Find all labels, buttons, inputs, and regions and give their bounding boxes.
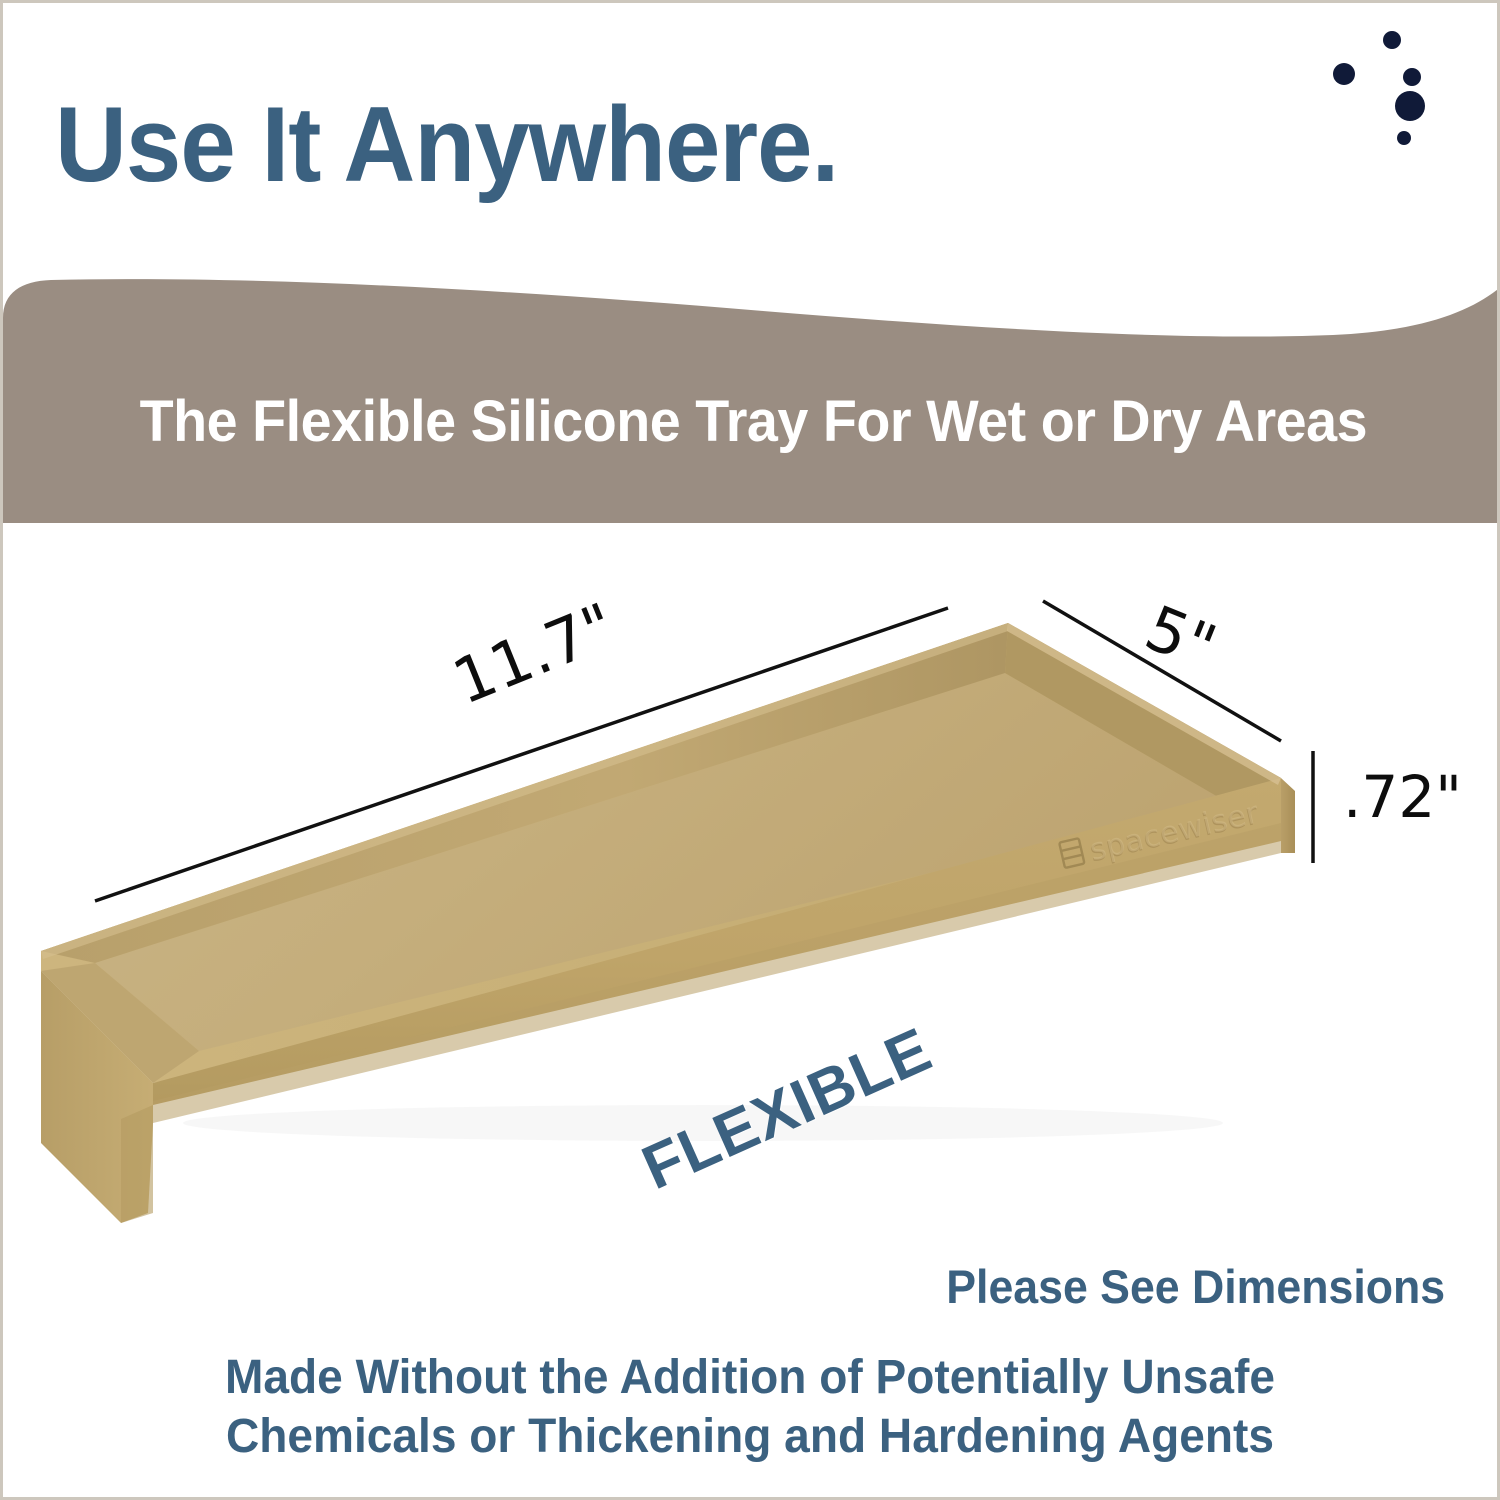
safety-claim-line-1: Made Without the Addition of Potentially… (33, 1348, 1467, 1407)
safety-claim-line-2: Chemicals or Thickening and Hardening Ag… (33, 1407, 1467, 1466)
product-photo: spacewiser spacewiser (3, 523, 1500, 1283)
tray-illustration: spacewiser spacewiser (3, 523, 1500, 1283)
dimension-height-label: .72" (1343, 763, 1462, 831)
decorative-dot-1 (1383, 31, 1401, 49)
decorative-dot-3 (1403, 68, 1421, 86)
decorative-dot-cluster (1333, 23, 1500, 203)
subtitle-banner: The Flexible Silicone Tray For Wet or Dr… (3, 273, 1500, 523)
product-infographic: Use It Anywhere. The Flexible Silicone T… (0, 0, 1500, 1500)
page-title: Use It Anywhere. (55, 91, 838, 198)
please-see-dimensions-text: Please See Dimensions (946, 1259, 1445, 1314)
decorative-dot-4 (1395, 91, 1425, 121)
safety-claim-text: Made Without the Addition of Potentially… (3, 1348, 1497, 1466)
decorative-dot-5 (1397, 131, 1411, 145)
decorative-dot-2 (1333, 63, 1355, 85)
banner-shape (3, 273, 1500, 523)
